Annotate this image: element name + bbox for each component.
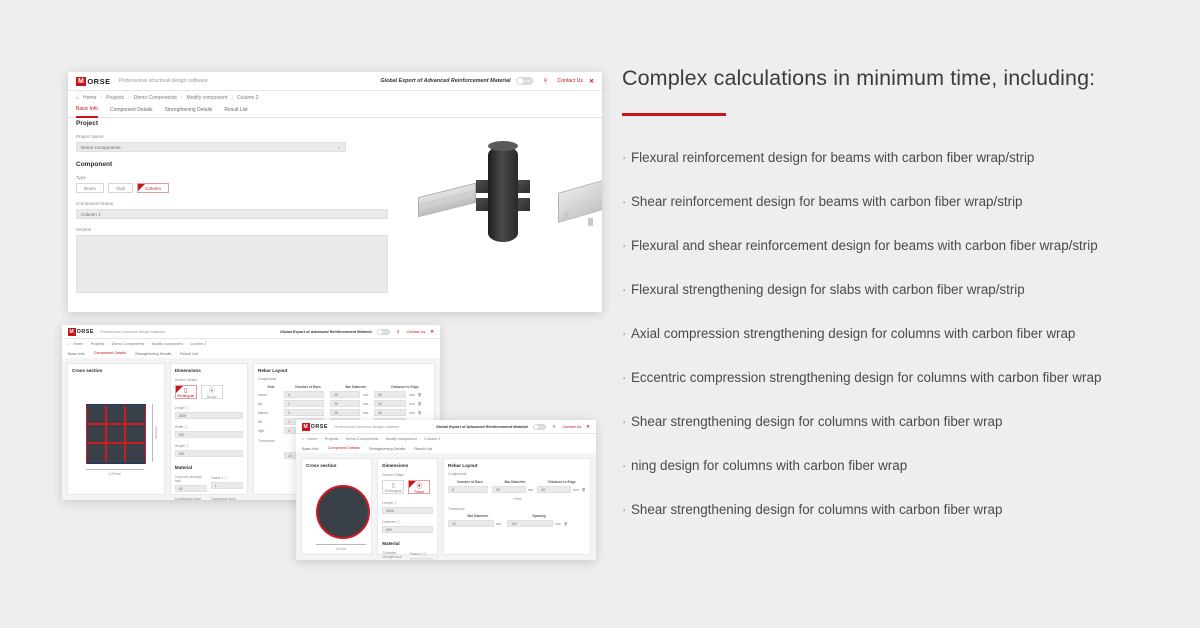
contact-us-link[interactable]: Contact Us (557, 78, 583, 84)
app-tagline: Professional structural design software (100, 330, 165, 334)
breadcrumb-sep: › (381, 437, 382, 441)
dimensions-title: Dimensions (175, 368, 243, 373)
row-dia-unit: mm (363, 402, 368, 406)
dia-input[interactable]: 20 (492, 486, 526, 493)
concrete-strength-label: Concrete strength fcuk (382, 551, 405, 559)
close-icon[interactable]: ✕ (589, 78, 594, 85)
app-header: MORSE Professional structural design sof… (296, 420, 596, 434)
breadcrumb-sep: › (231, 95, 233, 101)
row-edge-unit: mm (409, 402, 414, 406)
th-edge: Distance to Edge (538, 480, 586, 484)
breadcrumb: ⌂ Home › Projects › Demo Components › Mo… (68, 91, 602, 104)
shape-chip-rectangular[interactable]: ▯ Rectangular (382, 480, 404, 494)
longitudinal-label: Longitudinal (258, 377, 430, 381)
app-logo[interactable]: MORSE (302, 423, 328, 431)
app-logo[interactable]: MORSE (68, 328, 94, 336)
factor-label: Factor λ ⓘ (410, 551, 433, 556)
marketing-column: Complex calculations in minimum time, in… (622, 66, 1182, 546)
delete-icon[interactable]: 🗑 (418, 393, 422, 397)
height-input[interactable]: 600 (175, 450, 243, 457)
length-input[interactable]: 3000 (382, 507, 433, 514)
spacing-unit: mm (555, 522, 560, 526)
breadcrumb-item-modify[interactable]: Modify component (152, 342, 183, 346)
square-icon: ▯ (184, 387, 187, 394)
contact-us-link[interactable]: Contact Us (562, 425, 581, 429)
list-item-label: Axial compression strengthening design f… (631, 326, 1075, 342)
factor-input[interactable]: 1 (211, 482, 243, 489)
breadcrumb-item-modify[interactable]: Modify component (386, 437, 417, 441)
section-shape-group: ▯ Rectangular ⦿ Round (175, 385, 243, 399)
dimensions-panel: Dimensions Section Shape ▯ Rectangular ⦿… (170, 363, 248, 495)
breadcrumb-sep: › (181, 95, 183, 101)
diameter-label: Diameter ⓘ (382, 519, 433, 524)
row-dia-unit: mm (363, 393, 368, 397)
bullet-dot: · (622, 150, 631, 166)
length-label: Length ⓘ (382, 500, 433, 505)
contact-us-link[interactable]: Contact Us (406, 330, 425, 334)
list-item: ·Shear strengthening design for columns … (622, 502, 1182, 546)
promo-canvas: MORSE Professional structural design sof… (0, 0, 1200, 628)
component-section-title: Component (76, 161, 388, 168)
tab-result-list[interactable]: Result List (224, 104, 247, 117)
transverse-dia-input[interactable]: 10 (448, 520, 494, 527)
row-dia-input[interactable]: 20 (330, 409, 360, 416)
unit-toggle[interactable]: Unit (533, 424, 546, 430)
tab-strengthening-details[interactable]: Strengthening Details (165, 104, 213, 117)
list-item: ·Shear reinforcement design for beams wi… (622, 194, 1182, 238)
rebar-layout-panel: Rebar Layout Longitudinal Number of Bars… (443, 458, 591, 555)
breadcrumb-sep: › (147, 342, 148, 346)
th-side: Side (258, 385, 284, 389)
unit-toggle-label: Unit (537, 424, 542, 430)
bullet-dot: · (622, 194, 631, 210)
breadcrumb-item-demo[interactable]: Demo Components (346, 437, 379, 441)
breadcrumb-item-home[interactable]: Home (73, 342, 83, 346)
beam-3d[interactable] (418, 190, 476, 210)
spacing-input[interactable]: 100 (507, 520, 553, 527)
list-item-label: Shear strengthening design for columns w… (631, 502, 1002, 518)
transverse-dia-unit: mm (496, 522, 501, 526)
breadcrumb-item-current: Column 2 (190, 342, 206, 346)
header-actions: Global Export of Advanced Reinforcement … (280, 329, 434, 335)
logo-mark: M (302, 423, 310, 431)
header-actions: Global Export of Advanced Reinforcement … (380, 77, 594, 85)
section-textarea[interactable] (76, 235, 388, 293)
tab-component-details[interactable]: Component Details (110, 104, 153, 117)
dimensions-title: Dimensions (382, 463, 433, 468)
shape-chip-round-label: Round (415, 490, 424, 494)
rebar-layout-title: Rebar Layout (448, 463, 586, 468)
factor-label: Factor λ ⓘ (211, 475, 243, 480)
shape-chip-rect-label: Rectangular (385, 489, 402, 493)
row-side-label: top (258, 402, 284, 406)
home-icon[interactable]: ⌂ (68, 342, 70, 346)
type-chip-beam[interactable]: Beam (76, 183, 104, 193)
breadcrumb-item-projects[interactable]: Projects (325, 437, 339, 441)
cross-section-title: Cross section (306, 463, 367, 468)
unit-toggle[interactable]: Unit (516, 77, 533, 85)
length-label: Length ⓘ (175, 405, 243, 410)
cross-section-caption: 1000mm (86, 472, 144, 476)
breadcrumb-item-home[interactable]: Home (307, 437, 317, 441)
concrete-strength-input[interactable]: 40 (175, 485, 207, 492)
section-shape-label: Section Shape (382, 473, 433, 477)
bullet-dot: · (622, 238, 631, 254)
global-export-label: Global Export of Advanced Reinforcement … (380, 78, 510, 84)
breadcrumb-item-demo[interactable]: Demo Components (112, 342, 145, 346)
row-side-label: left (258, 420, 284, 424)
app-tagline: Professional structural design software (334, 425, 399, 429)
table-row: top220mm40mm🗑 (258, 400, 430, 407)
app-header: MORSE Professional structural design sof… (68, 72, 602, 91)
row-count-input[interactable]: 4 (284, 391, 324, 398)
list-item-label: Flexural strengthening design for slabs … (631, 282, 1025, 298)
home-icon[interactable]: ⌂ (302, 437, 304, 441)
basic-info-form: Project Project Name Demo Components ⌄ C… (76, 120, 388, 293)
tab-basic-info[interactable]: Basic Info (76, 103, 98, 118)
delete-icon[interactable]: 🗑 (582, 488, 586, 492)
logo-name: ORSE (311, 424, 328, 430)
list-item: ·Flexural and shear reinforcement design… (622, 238, 1182, 282)
app-window-component-details-round: MORSE Professional structural design sof… (296, 420, 596, 560)
cross-section-side-caption: 1000mm (154, 426, 158, 438)
factor-input[interactable]: 1 (410, 558, 433, 560)
project-name-label: Project Name (76, 134, 388, 139)
cross-section-diagram-rect[interactable] (86, 404, 146, 464)
width-label: Width ⓘ (175, 424, 243, 429)
accent-rule (622, 113, 726, 116)
close-icon[interactable]: ✕ (586, 424, 590, 430)
breadcrumb-sep: › (107, 342, 108, 346)
logo-mark: M (68, 328, 76, 336)
th-dia: Bar Diameter (492, 480, 538, 484)
list-item-label: Flexural reinforcement design for beams … (631, 150, 1034, 166)
edge-unit: mm (573, 488, 578, 492)
section-label: Section (76, 227, 388, 232)
type-chip-slab[interactable]: Slab (108, 183, 133, 193)
long-steel-label: Longitudinal steel strength (175, 497, 207, 500)
th-count: Number of Bars (448, 480, 492, 484)
rebar-table-header: Side Number of Bars Bar Diameter Distanc… (258, 385, 430, 389)
shape-chip-rectangular[interactable]: ▯ Rectangular (175, 385, 197, 399)
search-icon[interactable]: ⚲ (397, 329, 400, 334)
delete-icon[interactable]: 🗑 (418, 411, 422, 415)
project-name-select[interactable]: Demo Components ⌄ (76, 142, 346, 152)
th-count: Number of Bars (284, 385, 332, 389)
list-item-label: Shear reinforcement design for beams wit… (631, 194, 1023, 210)
breadcrumb-sep: › (100, 95, 102, 101)
shape-chip-round[interactable]: ⦿ Round (201, 385, 223, 399)
table-row: 10 mm 100 mm 🗑 (448, 520, 586, 527)
add-row-button[interactable]: + New (448, 497, 586, 501)
logo-mark: M (76, 77, 86, 86)
concrete-strength-label: Concrete strength fcuk (175, 475, 207, 483)
type-chip-column[interactable]: Column (137, 183, 169, 193)
rebar-layout-title: Rebar Layout (258, 368, 430, 373)
dia-unit: mm (528, 488, 533, 492)
row-count-input[interactable]: 2 (284, 400, 324, 407)
edge-input[interactable]: 40 (537, 486, 571, 493)
list-item: ·Shear strengthening design for columns … (622, 414, 1182, 458)
unit-toggle[interactable]: Unit (377, 329, 390, 335)
dimensions-panel: Dimensions Section Shape ▯ Rectangular ⦿… (377, 458, 438, 555)
logo-name: ORSE (87, 77, 110, 86)
table-row: corner420mm40mm🗑 (258, 391, 430, 398)
breadcrumb-item-home[interactable]: Home (83, 95, 96, 101)
longitudinal-label: Longitudinal (448, 472, 586, 476)
close-icon[interactable]: ✕ (430, 329, 434, 335)
table-row: 8 20 mm 40 mm 🗑 (448, 486, 586, 493)
breadcrumb-sep: › (186, 342, 187, 346)
breadcrumb-item-demo[interactable]: Demo Components (134, 95, 177, 101)
chevron-down-icon: ⌄ (337, 144, 341, 150)
length-input[interactable]: 3000 (175, 412, 243, 419)
breadcrumb-item-current: Column 2 (424, 437, 440, 441)
component-name-label: Component Name (76, 201, 388, 206)
section-shape-group: ▯ Rectangular ⦿ Round (382, 480, 433, 494)
home-icon[interactable]: ⌂ (76, 95, 79, 101)
shape-chip-round[interactable]: ⦿ Round (408, 480, 430, 494)
search-icon[interactable]: ⚲ (553, 424, 556, 429)
list-item: ·Eccentric compression strengthening des… (622, 370, 1182, 414)
bullet-dot: · (622, 458, 631, 474)
header-actions: Global Export of Advanced Reinforcement … (436, 424, 590, 430)
breadcrumb-item-modify[interactable]: Modify component (187, 95, 228, 101)
th-edge: Distance to Edge (380, 385, 430, 389)
row-edge-input[interactable]: 40 (374, 400, 406, 407)
breadcrumb-sep: › (320, 437, 321, 441)
cross-section-caption: 600mm (316, 547, 366, 551)
row-count-input[interactable]: 2 (284, 409, 324, 416)
breadcrumb-item-projects[interactable]: Projects (106, 95, 124, 101)
square-icon: ▯ (392, 482, 395, 489)
breadcrumb-sep: › (86, 342, 87, 346)
th-spacing: Spacing (508, 514, 570, 518)
count-input[interactable]: 8 (448, 486, 488, 493)
row-edge-input[interactable]: 40 (374, 391, 406, 398)
project-section-title: Project (76, 120, 388, 127)
section-shape-label: Section Shape (175, 378, 243, 382)
row-dia-unit: mm (363, 411, 368, 415)
breadcrumb-sep: › (420, 437, 421, 441)
feature-list: ·Flexural reinforcement design for beams… (622, 150, 1182, 546)
row-edge-unit: mm (409, 411, 414, 415)
cross-section-panel: Cross section 600mm (301, 458, 372, 555)
trans-steel-label: Transverse steel strength (211, 497, 243, 500)
shape-chip-round-label: Round (207, 395, 216, 399)
list-item-label: ning design for columns with carbon fibe… (631, 458, 907, 474)
shape-chip-rect-label: Rectangular (177, 394, 194, 398)
app-header: MORSE Professional structural design sof… (62, 325, 440, 339)
cross-section-diagram-round[interactable] (316, 485, 370, 539)
breadcrumb-sep: › (128, 95, 130, 101)
search-icon[interactable]: ⚲ (543, 78, 547, 84)
component-details-body: Cross section 600mm Dimensions Section S… (296, 453, 596, 560)
table-row: bottom220mm40mm🗑 (258, 409, 430, 416)
model-viewport[interactable] (400, 120, 594, 304)
bullet-dot: · (622, 414, 631, 430)
unit-toggle-label: Unit (523, 77, 530, 85)
global-export-label: Global Export of Advanced Reinforcement … (436, 425, 528, 429)
app-window-basic-info: MORSE Professional structural design sof… (68, 72, 602, 312)
slab-3d[interactable] (558, 186, 602, 216)
list-item-label: Flexural and shear reinforcement design … (631, 238, 1098, 254)
list-item: ·Flexural reinforcement design for beams… (622, 150, 1182, 194)
delete-icon[interactable]: 🗑 (564, 522, 568, 526)
row-edge-unit: mm (409, 393, 414, 397)
list-item-label: Shear strengthening design for columns w… (631, 414, 1002, 430)
column-3d[interactable] (488, 146, 518, 242)
app-logo[interactable]: MORSE (76, 77, 111, 86)
type-label: Type (76, 175, 388, 180)
cross-section-panel: Cross section 1000mm 1000mm (67, 363, 165, 495)
circle-icon: ⦿ (209, 386, 215, 395)
tab-bar: Basic Info Component Details Strengtheni… (68, 104, 602, 118)
row-edge-input[interactable]: 40 (374, 409, 406, 416)
unit-toggle-label: Unit (381, 329, 386, 335)
app-tagline: Professional structural design software (119, 78, 208, 84)
th-transverse-dia: Bar Diameter (448, 514, 508, 518)
bullet-dot: · (622, 326, 631, 342)
list-item: ·Axial compression strengthening design … (622, 326, 1182, 370)
project-name-value: Demo Components (81, 145, 121, 150)
row-dia-input[interactable]: 20 (330, 400, 360, 407)
component-name-input[interactable]: Column 1 (76, 209, 388, 219)
breadcrumb-item-current: Column 2 (237, 95, 258, 101)
breadcrumb-item-projects[interactable]: Projects (91, 342, 105, 346)
page-title: Complex calculations in minimum time, in… (622, 66, 1182, 91)
circle-icon: ⦿ (416, 481, 422, 490)
breadcrumb-sep: › (341, 437, 342, 441)
list-item: ·Flexural strengthening design for slabs… (622, 282, 1182, 326)
global-export-label: Global Export of Advanced Reinforcement … (280, 330, 372, 334)
diameter-input[interactable]: 600 (382, 526, 433, 533)
cross-section-title: Cross section (72, 368, 160, 373)
height-label: Height ⓘ (175, 443, 243, 448)
list-item: ·ning design for columns with carbon fib… (622, 458, 1182, 502)
type-chip-group: Beam Slab Column (76, 183, 388, 193)
width-input[interactable]: 600 (175, 431, 243, 438)
row-side-label: right (258, 429, 284, 433)
row-dia-input[interactable]: 20 (330, 391, 360, 398)
list-item-label: Eccentric compression strengthening desi… (631, 370, 1101, 386)
transverse-label: Transverse (448, 507, 586, 511)
bullet-dot: · (622, 502, 631, 518)
row-side-label: corner (258, 393, 284, 397)
th-dia: Bar Diameter (332, 385, 380, 389)
delete-icon[interactable]: 🗑 (418, 402, 422, 406)
bullet-dot: · (622, 370, 631, 386)
logo-name: ORSE (77, 329, 94, 335)
bullet-dot: · (622, 282, 631, 298)
row-side-label: bottom (258, 411, 284, 415)
